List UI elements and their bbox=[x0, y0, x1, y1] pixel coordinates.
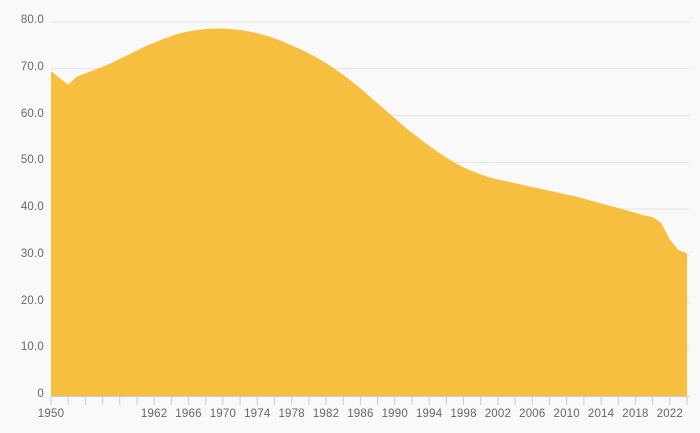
y-tick-label: 0 bbox=[0, 388, 44, 400]
y-tick-label: 70.0 bbox=[0, 61, 44, 73]
x-tick-label: 1994 bbox=[416, 408, 442, 420]
x-tick-label: 1998 bbox=[450, 408, 476, 420]
x-tick-label: 1950 bbox=[38, 408, 64, 420]
x-tick-label: 1962 bbox=[141, 408, 167, 420]
x-tick-label: 2010 bbox=[553, 408, 579, 420]
x-tick-label: 1970 bbox=[210, 408, 236, 420]
x-tick-label: 2014 bbox=[588, 408, 614, 420]
x-tick-label: 1978 bbox=[278, 408, 304, 420]
y-tick-label: 60.0 bbox=[0, 108, 44, 120]
y-tick-label: 30.0 bbox=[0, 248, 44, 260]
area-chart: 010.020.030.040.050.060.070.080.0 195019… bbox=[0, 0, 700, 433]
y-tick-label: 40.0 bbox=[0, 201, 44, 213]
x-tick-label: 1974 bbox=[244, 408, 270, 420]
y-tick-label: 10.0 bbox=[0, 341, 44, 353]
y-tick-label: 80.0 bbox=[0, 14, 44, 26]
x-tick-label: 2006 bbox=[519, 408, 545, 420]
x-tick-label: 2022 bbox=[657, 408, 683, 420]
x-tick-label: 1986 bbox=[347, 408, 373, 420]
chart-canvas bbox=[0, 0, 700, 433]
x-tick-label: 1982 bbox=[313, 408, 339, 420]
x-tick-label: 1990 bbox=[382, 408, 408, 420]
y-tick-label: 50.0 bbox=[0, 154, 44, 166]
area-series bbox=[51, 29, 687, 396]
x-tick-label: 2018 bbox=[622, 408, 648, 420]
area-fill bbox=[51, 29, 687, 396]
x-tick-label: 2002 bbox=[485, 408, 511, 420]
x-axis bbox=[51, 397, 690, 406]
y-tick-label: 20.0 bbox=[0, 295, 44, 307]
x-tick-label: 1966 bbox=[175, 408, 201, 420]
